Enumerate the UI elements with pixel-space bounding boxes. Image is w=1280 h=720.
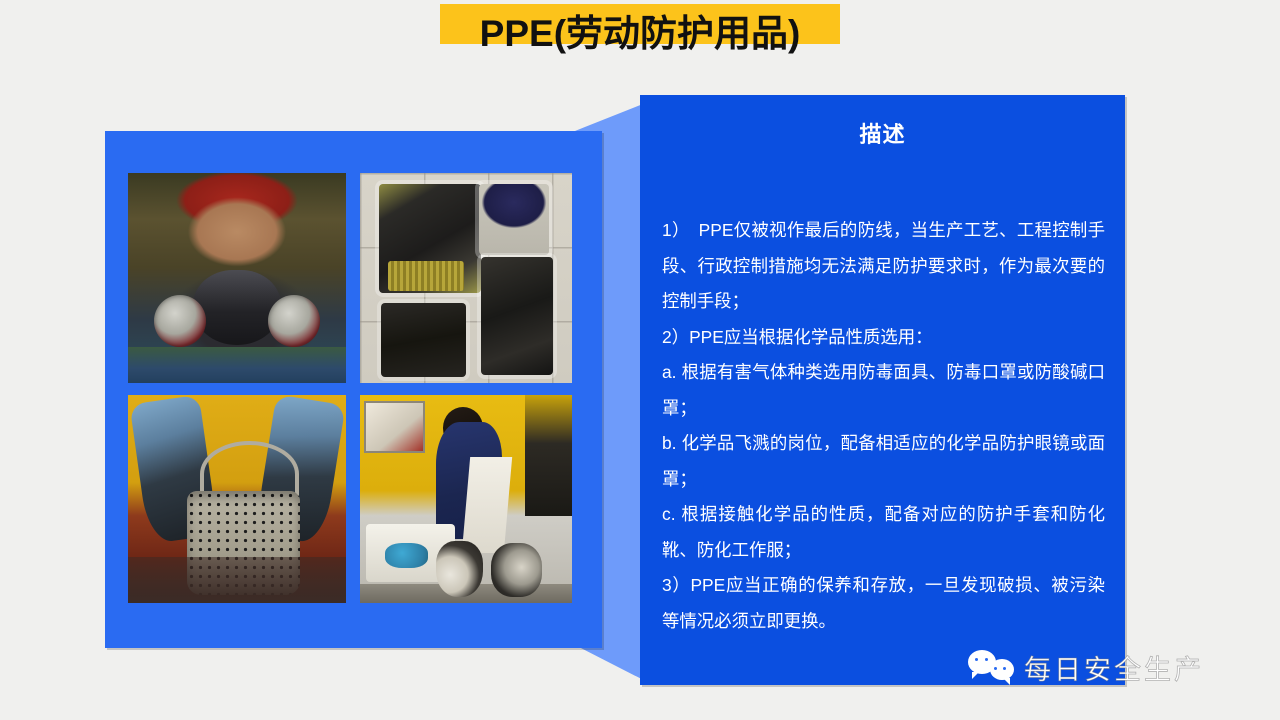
work-surface (128, 557, 346, 603)
half-face-respirator-shape (193, 270, 280, 346)
wash-cloth (385, 543, 427, 568)
description-paragraph: 1） PPE仅被视作最后的防线，当生产工艺、工程控制手段、行政控制措施均无法满足… (662, 213, 1105, 320)
respirator-cartridge-left (154, 295, 206, 347)
description-paragraph: a. 根据有害气体种类选用防毒面具、防毒口罩或防酸碱口罩； (662, 355, 1105, 426)
photo-chemical-gloves-basket (128, 395, 346, 603)
description-panel: 描述 1） PPE仅被视作最后的防线，当生产工艺、工程控制手段、行政控制措施均无… (640, 95, 1125, 685)
watermark: 每日安全生产 (968, 645, 1204, 689)
description-paragraph: c. 根据接触化学品的性质，配备对应的防护手套和防化靴、防化工作服； (662, 497, 1105, 568)
worker-apron (462, 457, 513, 553)
description-paragraph: b. 化学品飞溅的岗位，配备相适应的化学品防护眼镜或面罩； (662, 426, 1105, 497)
worker-collar (128, 347, 346, 383)
respirator-mask-2 (491, 543, 542, 597)
packaged-apron (481, 257, 553, 375)
watermark-text: 每日安全生产 (1024, 648, 1204, 687)
photo-cleaning-respirators (360, 395, 572, 603)
page-title: PPE(劳动防护用品) (0, 8, 1280, 60)
photo-ppe-items-packaged (360, 173, 572, 383)
wechat-icon (968, 650, 1014, 684)
packaged-gloves (381, 303, 466, 377)
packaged-helmet (479, 184, 549, 255)
photo-panel (105, 131, 602, 648)
wall-poster (364, 401, 425, 453)
metal-cabinet (525, 395, 572, 516)
photo-grid (128, 173, 578, 603)
respirator-mask-1 (436, 541, 483, 597)
description-paragraph: 2）PPE应当根据化学品性质选用： (662, 320, 1105, 356)
slide-title-area: PPE(劳动防护用品) (0, 0, 1280, 72)
description-paragraph: 3）PPE应当正确的保养和存放，一旦发现破损、被污染等情况必须立即更换。 (662, 568, 1105, 639)
photo-respirator-worker (128, 173, 346, 383)
description-header: 描述 (640, 117, 1125, 149)
description-body: 1） PPE仅被视作最后的防线，当生产工艺、工程控制手段、行政控制措施均无法满足… (662, 213, 1105, 639)
respirator-cartridge-right (268, 295, 320, 347)
cleaning-brush (388, 261, 464, 290)
